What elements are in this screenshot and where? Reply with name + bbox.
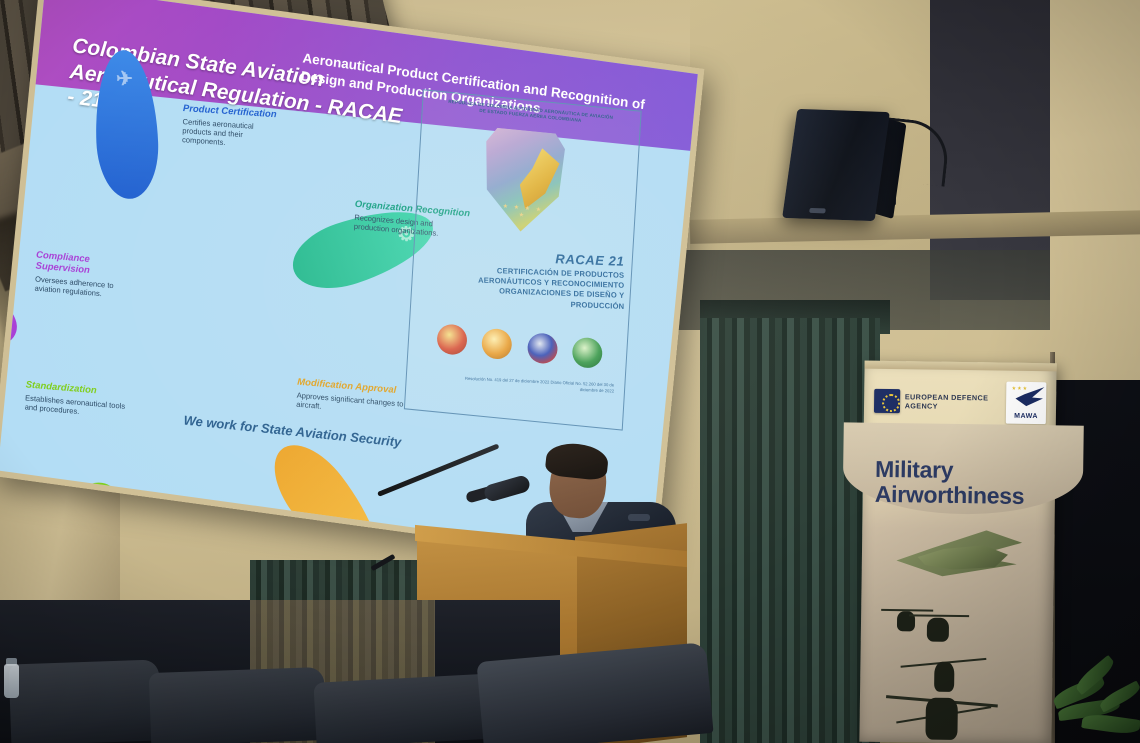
mawa-logo: ★★★ MAWA [1006,382,1046,425]
label-compliance-supervision: Compliance Supervision Oversees adherenc… [34,251,137,302]
plant-leaf [1098,680,1140,712]
petal-product-certification: ✈ [93,50,161,199]
label-description: Certifies aeronautical products and thei… [182,117,282,151]
cover-seal-row [436,323,603,369]
seal-icon-1 [436,323,468,356]
chair [9,659,162,743]
helicopter-rotor-2 [909,614,969,617]
label-product-certification: Product Certification Certifies aeronaut… [182,104,283,151]
helicopter-icon-2 [927,618,949,642]
rollup-banner: EUROPEAN DEFENCE AGENCY ★★★ MAWA Militar… [859,361,1056,743]
helicopter-icon-3 [934,662,954,692]
label-modification-approval: Modification Approval Approves significa… [296,378,421,420]
helicopter-icon-4 [925,698,958,740]
airplane-icon: ✈ [93,66,156,91]
chair [149,667,326,743]
banner-title: Military Airworthiness [875,457,1046,509]
racae-flower-diagram: ✈ ⚙ ⛭ ☰ ⚿ [149,196,160,207]
foreground-seating [0,600,620,743]
seal-icon-3 [526,332,558,365]
seal-icon-2 [481,327,513,360]
presentation-photo: Colombian State Aviation Aeronautical Re… [0,0,1140,743]
banner-title-line1: Military [875,457,1045,484]
eda-logo-text: EUROPEAN DEFENCE AGENCY [905,392,1007,412]
mawa-stars-icon: ★★★ [1012,386,1029,392]
mawa-logo-text: MAWA [1006,413,1046,421]
potted-plant [1052,650,1140,743]
stage-curtain-right [700,318,880,743]
slide-tagline: We work for State Aviation Security [183,413,482,458]
racae-document-cover: REPÚBLICA DE COLOMBIA AUTORIDAD AERONÁUT… [404,89,642,430]
banner-fighter-jet-illustration [887,519,1038,599]
loudspeaker-body [782,109,890,221]
plant-leaf [1081,712,1140,736]
loudspeaker-badge [809,208,826,214]
seal-icon-4 [571,336,603,369]
banner-title-line2: Airworthiness [875,481,1045,508]
eda-logo: EUROPEAN DEFENCE AGENCY [874,389,1007,415]
presenter-rank-insignia [628,514,650,521]
chair [313,673,501,743]
wall-loudspeaker [782,109,890,221]
cover-title-block: RACAE 21 CERTIFICACIÓN DE PRODUCTOS AERO… [457,248,624,312]
eu-stars-icon [874,389,900,413]
colombian-air-force-crest: ★ ★ ★ ★ ★ [478,124,570,236]
label-standardization: Standardization Establishes aeronautical… [25,380,134,420]
water-bottle [4,664,19,698]
cover-subtitle: CERTIFICACIÓN DE PRODUCTOS AERONÁUTICOS … [457,265,624,312]
cover-legal-footer: Resolución No. 419 del 27 de diciembre 2… [459,375,615,395]
